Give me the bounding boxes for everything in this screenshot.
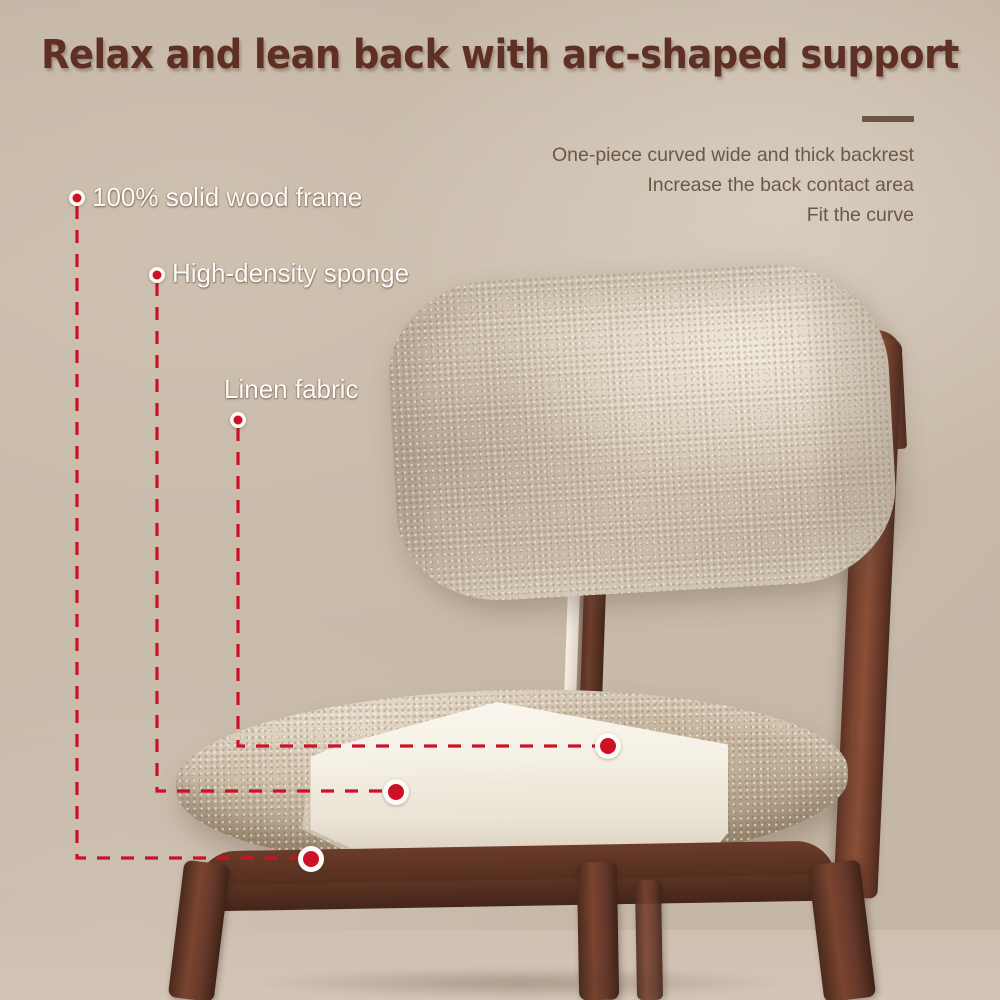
callout-dot-sponge-start bbox=[149, 267, 165, 283]
product-infographic: Relax and lean back with arc-shaped supp… bbox=[0, 0, 1000, 1000]
callout-dot-sponge-end bbox=[383, 779, 409, 805]
callout-label-linen-fabric: Linen fabric bbox=[224, 374, 358, 404]
callout-dot-wood-end bbox=[298, 846, 324, 872]
chair-floor-shadow bbox=[150, 965, 890, 1000]
description-line-3: Fit the curve bbox=[494, 200, 914, 230]
callout-label-high-density-sponge: High-density sponge bbox=[172, 258, 409, 288]
seat-foam-cutaway-side bbox=[284, 760, 728, 856]
callout-label-solid-wood-frame: 100% solid wood frame bbox=[92, 182, 362, 212]
callout-dot-linen-end bbox=[595, 733, 621, 759]
section-rule bbox=[862, 116, 914, 122]
description-line-1: One-piece curved wide and thick backrest bbox=[494, 140, 914, 170]
description-line-2: Increase the back contact area bbox=[494, 170, 914, 200]
chair-backrest-cushion bbox=[383, 258, 900, 605]
page-title: Relax and lean back with arc-shaped supp… bbox=[40, 32, 960, 78]
backrest-shading bbox=[797, 258, 901, 582]
backrest-description: One-piece curved wide and thick backrest… bbox=[494, 140, 914, 230]
callout-dot-wood-start bbox=[69, 190, 85, 206]
callout-dot-linen-start bbox=[230, 412, 246, 428]
